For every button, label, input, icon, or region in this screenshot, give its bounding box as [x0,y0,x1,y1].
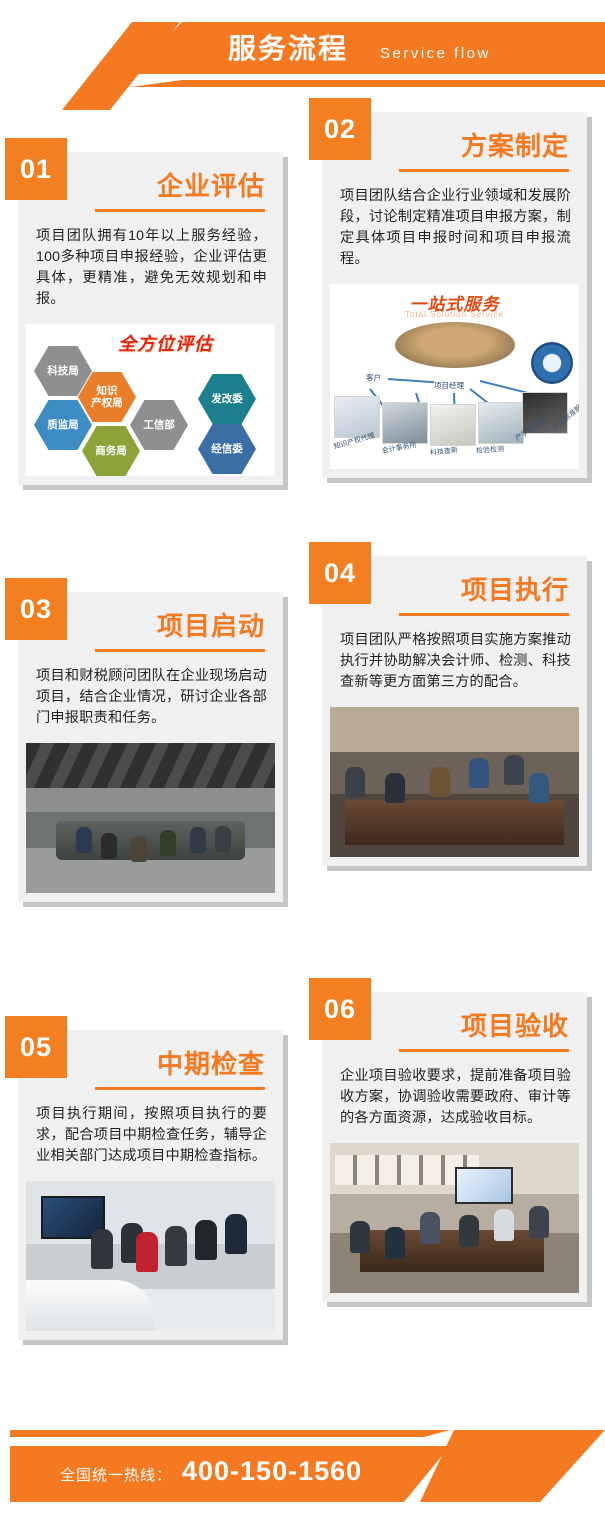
person [160,830,176,856]
hotline-label: 全国统一热线： [60,1464,172,1485]
header-thin-stripe [130,80,605,87]
step-number-badge: 01 [5,138,67,200]
person [430,767,450,797]
page-header: 服务流程 Service flow [0,0,605,110]
branch-label-inspection: 检验检测 [476,444,505,456]
service-flow-infographic: 服务流程 Service flow 01 企业评估 项目团队拥有10年以上服务经… [0,0,605,1538]
acceptance-meeting-photo [330,1143,579,1293]
step-card-06: 06 项目验收 企业项目验收要求，提前准备项目验收方案，协调验收需要政府、审计等… [322,992,587,1302]
person [190,827,206,853]
person [385,773,405,803]
person [165,1226,187,1266]
meeting-table [345,800,564,845]
thumb-accounting-firm [382,402,428,444]
person [195,1220,217,1260]
step-number-badge: 06 [309,978,371,1040]
node-customer: 客户 [366,372,381,383]
person [385,1227,405,1259]
person [469,758,489,788]
arrow-line [388,378,434,383]
one-stop-service-diagram: 一站式服务 Total Solution Service 客户 项目经理 知识产… [330,284,579,469]
person [494,1209,514,1241]
step-card-02: 02 方案制定 项目团队结合企业行业领域和发展阶段，讨论制定精准项目申报方案，制… [322,112,587,478]
person [131,836,147,862]
person [459,1215,479,1247]
hex-shangwu-ju: 商务局 [82,426,140,476]
hex-jingxin-wei: 经信委 [198,424,256,474]
step-card-04: 04 项目执行 项目团队严格按照项目实施方案推动执行并协助解决会计师、检测、科技… [322,556,587,866]
step-card-05: 05 中期检查 项目执行期间，按照项目执行的要求，配合项目中期检查任务，辅导企业… [18,1030,283,1340]
footer-angled-tail [420,1430,605,1502]
ceiling-pattern [26,743,275,788]
hex-gongxin-bu: 工信部 [130,400,188,450]
step-number-badge: 05 [5,1016,67,1078]
step-card-01: 01 企业评估 项目团队拥有10年以上服务经验，100多种项目申报经验，企业评估… [18,152,283,485]
conference-room-photo [26,743,275,893]
step-description: 企业项目验收要求，提前准备项目验收方案，协调验收需要政府、审计等的各方面资源，达… [322,1052,587,1143]
step-number-badge: 03 [5,578,67,640]
hexagon-graphic-title: 全方位评估 [118,330,213,356]
step-description: 项目团队严格按照项目实施方案推动执行并协助解决会计师、检测、科技查新等更方面第三… [322,616,587,707]
step-number-badge: 02 [309,98,371,160]
team-photo-oval [395,322,515,368]
header-orange-bar [130,22,605,74]
step-description: 项目和财税顾问团队在企业现场启动项目，结合企业情况，研讨企业各部门申报职责和任务… [18,652,283,743]
hex-fagai-wei: 发改委 [198,374,256,424]
person [420,1212,440,1244]
person [504,755,524,785]
person [350,1221,370,1253]
page-footer: 全国统一热线： 400-150-1560 [0,1420,605,1538]
step-card-03: 03 项目启动 项目和财税顾问团队在企业现场启动项目，结合企业情况，研讨企业各部… [18,592,283,902]
hexagon-evaluation-graphic: 全方位评估 科技局 知识产权局 质监局 工信部 商务局 发改委 经信委 [26,324,275,476]
page-subtitle: Service flow [380,40,491,68]
person [101,833,117,859]
working-meeting-photo [330,707,579,857]
showroom-visit-photo [26,1181,275,1331]
person [91,1229,113,1269]
person [76,827,92,853]
person [529,1206,549,1238]
person [215,826,231,852]
person [529,773,549,803]
diagram-subtitle: Total Solution Service [405,310,504,319]
branch-label-novelty-search: 科技查新 [429,445,458,458]
thumb-tech-novelty [430,404,476,446]
hex-zhijian-ju: 质监局 [34,400,92,450]
person [225,1214,247,1254]
certification-seal-icon [531,342,573,384]
step-description: 项目团队结合企业行业领域和发展阶段，讨论制定精准项目申报方案，制定具体项目申报时… [322,172,587,284]
person [136,1232,158,1272]
step-number-badge: 04 [309,542,371,604]
step-description: 项目执行期间，按照项目执行的要求，配合项目中期检查任务，辅导企业相关部门达成项目… [18,1090,283,1181]
step-description: 项目团队拥有10年以上服务经验，100多种项目申报经验，企业评估更具体，更精准，… [18,212,283,324]
person [345,767,365,797]
footer-thin-stripe [10,1430,450,1437]
page-title: 服务流程 [228,30,348,68]
showroom-counter [26,1280,155,1331]
hotline-number[interactable]: 400-150-1560 [182,1456,362,1487]
projection-screen [455,1167,514,1204]
node-project-manager: 项目经理 [434,380,464,391]
